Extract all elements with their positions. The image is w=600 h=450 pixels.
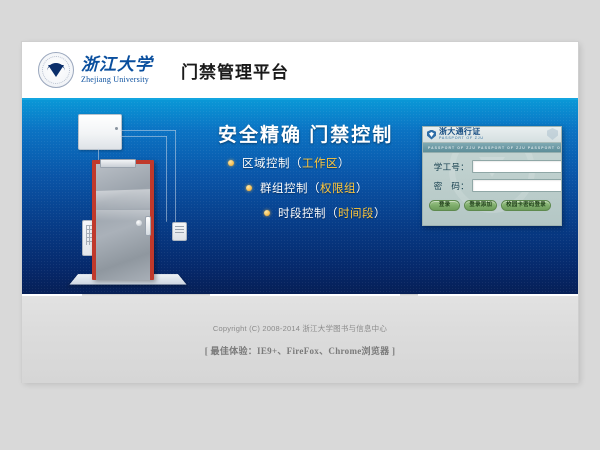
- bullet-dot-icon: [264, 210, 270, 216]
- login-form: 学工号： 密 码：: [423, 153, 561, 192]
- login-title-block: 浙大通行证 PASSPORT OF ZJU: [439, 128, 484, 141]
- shield-icon: [427, 130, 436, 140]
- feature-highlight: 时间段: [338, 205, 374, 221]
- banner-slogan: 安全精确 门禁控制: [218, 120, 393, 147]
- footer-divider: [210, 294, 400, 296]
- feature-list: 区域控制（ 工作区 ） 群组控制（ 权限组 ） 时段控制（ 时间段 ）: [228, 155, 386, 230]
- feature-label-end: ）: [356, 180, 368, 196]
- site-footer: Copyright (C) 2008-2014 浙江大学图书与信息中心 [ 最佳…: [22, 294, 578, 383]
- login-panel-header: 浙大通行证 PASSPORT OF ZJU: [423, 127, 561, 143]
- login-title-cn: 浙大通行证: [439, 128, 484, 136]
- logo-chinese-name: 浙江大学: [81, 56, 153, 73]
- feature-item-time-control: 时段控制（ 时间段 ）: [264, 205, 386, 221]
- feature-item-group-control: 群组控制（ 权限组 ）: [246, 180, 386, 196]
- login-title-en: PASSPORT OF ZJU: [439, 137, 484, 141]
- feature-label-end: ）: [338, 155, 350, 171]
- username-label: 学工号：: [429, 161, 472, 173]
- password-label: 密 码：: [429, 180, 472, 192]
- feature-highlight: 权限组: [320, 180, 356, 196]
- logo-text: 浙江大学 Zhejiang University: [81, 56, 153, 84]
- controller-box-icon: [78, 114, 122, 150]
- bullet-dot-icon: [228, 160, 234, 166]
- site-header: 浙江大学 Zhejiang University 门禁管理平台: [22, 42, 578, 98]
- login-panel: 浙大通行证 PASSPORT OF ZJU PASSPORT OF ZJU PA…: [422, 126, 562, 226]
- feature-label: 时段控制（: [278, 205, 338, 221]
- feature-label: 区域控制（: [242, 155, 302, 171]
- strip-text: PASSPORT OF ZJU PASSPORT OF ZJU PASSPORT…: [423, 146, 561, 150]
- door-closer-icon: [100, 159, 136, 168]
- browser-support-text: [ 最佳体验：IE9+、FireFox、Chrome浏览器 ]: [22, 334, 578, 357]
- shield-corner-icon: [547, 128, 558, 140]
- wire-segment: [175, 130, 177, 222]
- zju-seal-icon: [38, 52, 74, 88]
- footer-divider: [22, 294, 82, 296]
- door-lock-icon: [136, 220, 142, 226]
- wire-segment: [166, 136, 168, 222]
- username-input[interactable]: [472, 160, 562, 173]
- feature-item-area-control: 区域控制（ 工作区 ）: [228, 155, 386, 171]
- feature-label-end: ）: [374, 205, 386, 221]
- door-highlight: [96, 210, 150, 220]
- login-add-button[interactable]: 登录添加: [464, 200, 497, 211]
- feature-highlight: 工作区: [302, 155, 338, 171]
- form-row-password: 密 码：: [429, 179, 555, 192]
- page-title: 门禁管理平台: [181, 58, 289, 83]
- passport-watermark-strip: PASSPORT OF ZJU PASSPORT OF ZJU PASSPORT…: [423, 143, 561, 153]
- banner-top-accent-line: [22, 98, 578, 100]
- feature-label: 群组控制（: [260, 180, 320, 196]
- wire-segment: [120, 136, 167, 138]
- door-handle-icon: [145, 216, 151, 236]
- copyright-text: Copyright (C) 2008-2014 浙江大学图书与信息中心: [22, 295, 578, 334]
- card-reader-icon: [172, 222, 187, 241]
- university-logo[interactable]: 浙江大学 Zhejiang University: [38, 52, 153, 88]
- form-row-username: 学工号：: [429, 160, 555, 173]
- logo-english-name: Zhejiang University: [81, 76, 153, 84]
- access-control-door-illustration: [56, 112, 191, 290]
- door-highlight: [96, 188, 150, 209]
- login-button[interactable]: 登录: [429, 200, 460, 211]
- campus-card-login-button[interactable]: 校园卡密码登录: [501, 200, 551, 211]
- footer-divider: [418, 294, 578, 296]
- password-input[interactable]: [472, 179, 562, 192]
- page-card: 浙江大学 Zhejiang University 门禁管理平台: [22, 42, 578, 382]
- seal-bird-shape: [48, 65, 64, 77]
- door-frame: [92, 160, 154, 280]
- bullet-dot-icon: [246, 185, 252, 191]
- hero-banner: 安全精确 门禁控制 区域控制（ 工作区 ） 群组控制（ 权限组 ） 时段控制（ …: [22, 98, 578, 294]
- login-button-row: 登录 登录添加 校园卡密码登录: [423, 198, 561, 211]
- wire-segment: [120, 130, 176, 132]
